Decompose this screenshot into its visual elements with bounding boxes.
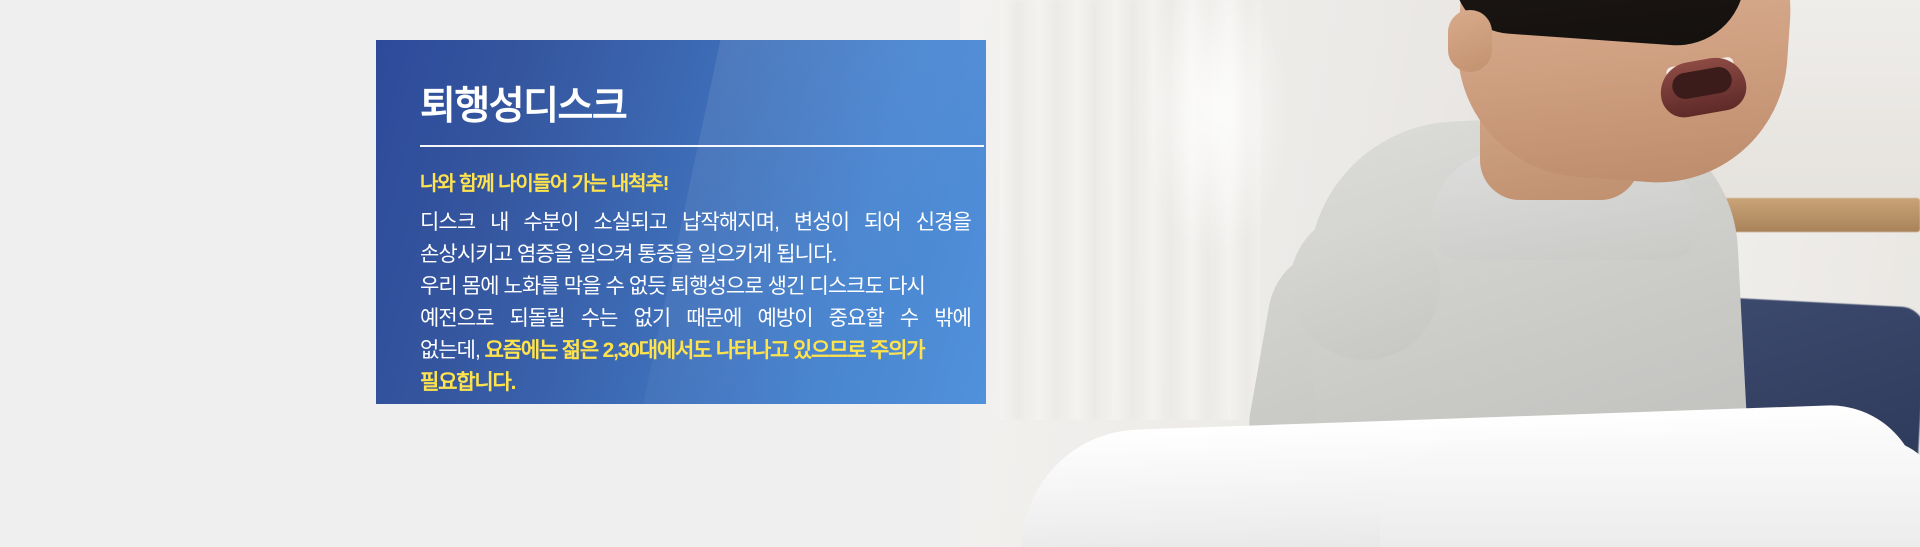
title-divider — [420, 145, 984, 147]
body-word: 디스크 — [420, 207, 475, 239]
body-word: 수 — [900, 303, 918, 335]
body-line-2: 손상시키고 염증을 일으켜 통증을 일으키게 됩니다. — [420, 239, 971, 271]
body-word: 수는 — [581, 303, 618, 335]
body-word: 수분이 — [523, 207, 578, 239]
body-word: 되어 — [864, 207, 901, 239]
body-word: 내 — [490, 207, 508, 239]
photo-man-ear — [1448, 10, 1492, 72]
photo-man-shoulder — [1290, 210, 1440, 360]
body-line-6: 필요합니다. — [420, 367, 971, 399]
body-word: 납작해지며, — [682, 207, 779, 239]
body-word: 예전으로 — [420, 303, 494, 335]
photo-window-glow — [1140, 0, 1290, 260]
body-line-1: 디스크내수분이소실되고납작해지며,변성이되어신경을 — [420, 207, 971, 239]
body-word: 밖에 — [934, 303, 971, 335]
card-content: 퇴행성디스크 나와 함께 나이들어 가는 내척추! 디스크내수분이소실되고납작해… — [376, 40, 986, 399]
closing-highlight-second: 필요합니다. — [420, 371, 515, 394]
body-word: 신경을 — [916, 207, 971, 239]
body-word: 중요할 — [829, 303, 884, 335]
body-word: 소실되고 — [593, 207, 667, 239]
body-line-3: 우리 몸에 노화를 막을 수 없듯 퇴행성으로 생긴 디스크도 다시 — [420, 271, 971, 303]
photo-white-duvet-fold — [1380, 440, 1920, 547]
closing-prefix: 없는데, — [420, 339, 485, 362]
degenerative-disc-banner: 퇴행성디스크 나와 함께 나이들어 가는 내척추! 디스크내수분이소실되고납작해… — [0, 0, 1920, 547]
body-word: 없기 — [634, 303, 671, 335]
body-word: 예방이 — [757, 303, 812, 335]
body-line-4: 예전으로되돌릴수는없기때문에예방이중요할수밖에 — [420, 303, 971, 335]
body-line-5: 없는데, 요즘에는 젊은 2,30대에서도 나타나고 있으므로 주의가 — [420, 335, 971, 367]
patient-photo — [960, 0, 1920, 547]
card-body: 디스크내수분이소실되고납작해지며,변성이되어신경을 손상시키고 염증을 일으켜 … — [420, 207, 971, 399]
body-word: 때문에 — [686, 303, 741, 335]
info-card: 퇴행성디스크 나와 함께 나이들어 가는 내척추! 디스크내수분이소실되고납작해… — [376, 40, 986, 404]
page-title: 퇴행성디스크 — [420, 85, 964, 130]
closing-highlight: 요즘에는 젊은 2,30대에서도 나타나고 있으므로 주의가 — [485, 339, 925, 362]
card-subtitle: 나와 함께 나이들어 가는 내척추! — [420, 172, 964, 196]
body-word: 되돌릴 — [510, 303, 565, 335]
body-word: 변성이 — [794, 207, 849, 239]
